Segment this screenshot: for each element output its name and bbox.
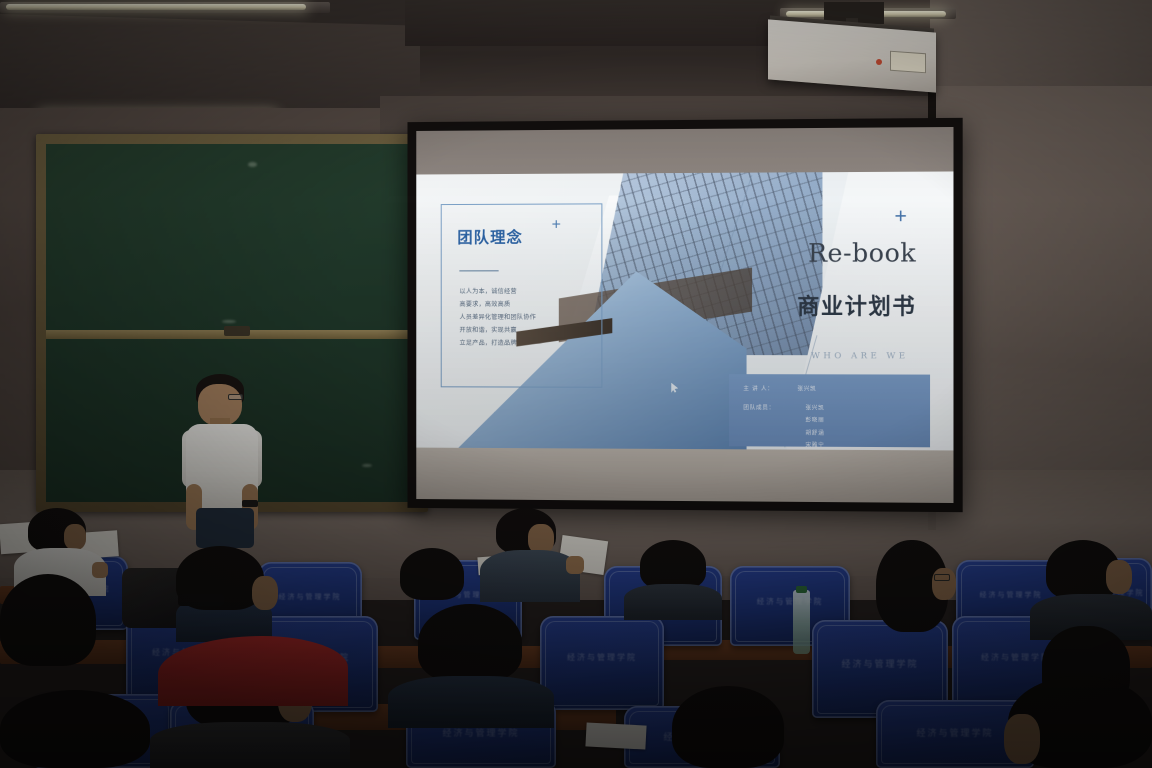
bullet-item: 以人为本，诚信经营 <box>459 286 602 299</box>
audience-hair <box>0 574 96 666</box>
projector-spec-sticker <box>890 51 926 74</box>
audience-torso <box>480 550 580 602</box>
projection-screen-surface: 团队理念 + 以人为本，诚信经营 高要求，高效高质 人员差异化管理和团队协作 开… <box>416 127 953 503</box>
slide-title-chinese: 商业计划书 <box>797 289 916 321</box>
slide-card-rule <box>459 270 498 271</box>
team-member: 胡舒涵 <box>805 428 824 436</box>
plus-icon-large: + <box>894 205 906 229</box>
bottle-cap <box>796 586 807 593</box>
audience-face <box>932 568 956 600</box>
audience-hair <box>418 604 522 682</box>
glasses-icon <box>228 394 243 400</box>
screen-unlit-bottom <box>416 448 953 503</box>
presenter-trousers <box>196 508 254 548</box>
presenter-label: 主 讲 人： <box>743 384 773 392</box>
handout-paper <box>585 722 646 749</box>
glasses-icon <box>934 574 950 581</box>
seat[interactable]: 经济与管理学院 <box>540 616 664 710</box>
chalk-smudge <box>362 464 372 467</box>
team-member: 彭晓丽 <box>805 416 824 424</box>
slide-subtitle: WHO ARE WE <box>811 351 908 361</box>
audience-torso <box>624 584 722 620</box>
audience-torso <box>388 676 554 728</box>
audience-face <box>1106 560 1132 594</box>
audience-hair <box>640 540 706 590</box>
audience-hand <box>566 556 584 574</box>
bullet-item: 开放和谐，实现共赢 <box>459 325 602 338</box>
team-member: 宋雅宁 <box>805 440 824 448</box>
glasses-icon <box>178 594 224 606</box>
seat-label: 经济与管理学院 <box>730 596 850 607</box>
bullet-item: 高要求，高效高质 <box>459 299 602 312</box>
slide-credits-panel: 主 讲 人： 张兴凯 团队成员： 张兴凯 彭晓丽 胡舒涵 宋雅宁 <box>729 375 930 448</box>
chalk-smudge <box>222 320 236 323</box>
slide-card-heading: 团队理念 <box>457 226 523 248</box>
team-member: 张兴凯 <box>805 404 824 412</box>
screen-unlit-top <box>416 127 953 175</box>
audience-face <box>64 524 86 550</box>
team-label: 团队成员： <box>743 403 775 411</box>
audience-face <box>252 576 278 610</box>
presenter-name: 张兴凯 <box>797 384 816 392</box>
wristwatch <box>242 500 258 507</box>
seat-label: 经济与管理学院 <box>540 652 664 663</box>
audience-torso <box>150 722 350 768</box>
presentation-slide: 团队理念 + 以人为本，诚信经营 高要求，高效高质 人员差异化管理和团队协作 开… <box>416 171 953 450</box>
audience-hair <box>0 690 150 768</box>
slide-bullet-list: 以人为本，诚信经营 高要求，高效高质 人员差异化管理和团队协作 开放和谐，实现共… <box>459 286 602 350</box>
chalk-smudge <box>248 162 257 167</box>
projection-screen: 团队理念 + 以人为本，诚信经营 高要求，高效高质 人员差异化管理和团队协作 开… <box>407 118 962 512</box>
bullet-item: 人员差异化管理和团队协作 <box>459 312 602 325</box>
fluorescent-tube-1 <box>6 4 306 10</box>
projector-indicator-led <box>876 59 882 65</box>
water-bottle <box>793 590 810 654</box>
classroom-scene: 团队理念 + 以人为本，诚信经营 高要求，高效高质 人员差异化管理和团队协作 开… <box>0 0 1152 768</box>
slide-title-english: Re-book <box>808 239 916 268</box>
plus-icon-small: + <box>552 216 561 234</box>
audience-hair <box>400 548 464 600</box>
bullet-item: 立足产品，打造品牌 <box>459 338 602 351</box>
chalk-rail-clip <box>224 326 250 336</box>
audience-face <box>1004 714 1040 764</box>
seat-label: 经济与管理学院 <box>812 657 948 670</box>
audience-hand <box>92 562 108 578</box>
audience-hair <box>672 686 784 768</box>
